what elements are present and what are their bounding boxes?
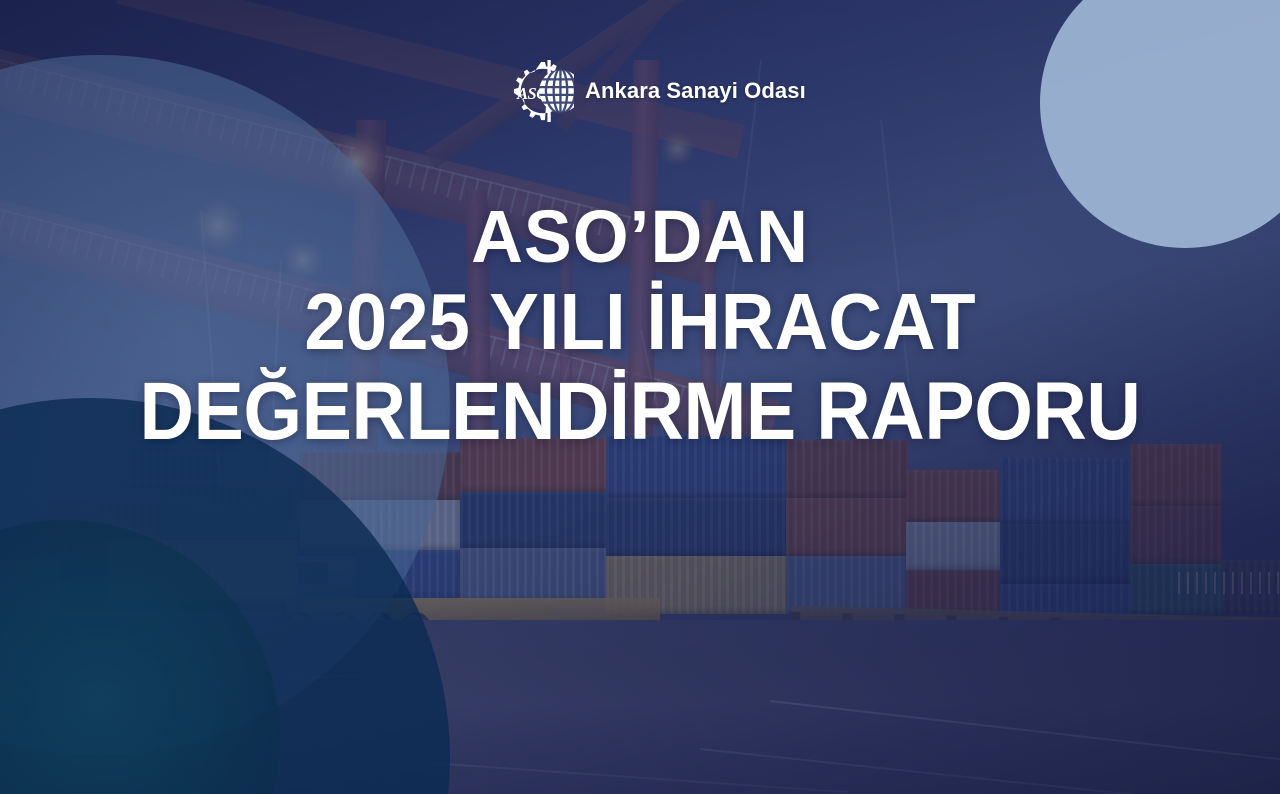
brand-name: Ankara Sanayi Odası	[585, 80, 806, 102]
headline-line-3: DEĞERLENDİRME RAPORU	[51, 366, 1229, 458]
headline-line-2: 2025 YILI İHRACAT	[45, 278, 1235, 366]
aso-gear-globe-logo-icon: ASO	[512, 60, 574, 122]
report-cover-banner: ASO	[0, 0, 1280, 794]
headline-line-1: ASO’DAN	[19, 196, 1261, 278]
page-title: ASO’DAN 2025 YILI İHRACAT DEĞERLENDİRME …	[0, 196, 1280, 458]
aso-logo-lockup: ASO	[512, 60, 806, 122]
